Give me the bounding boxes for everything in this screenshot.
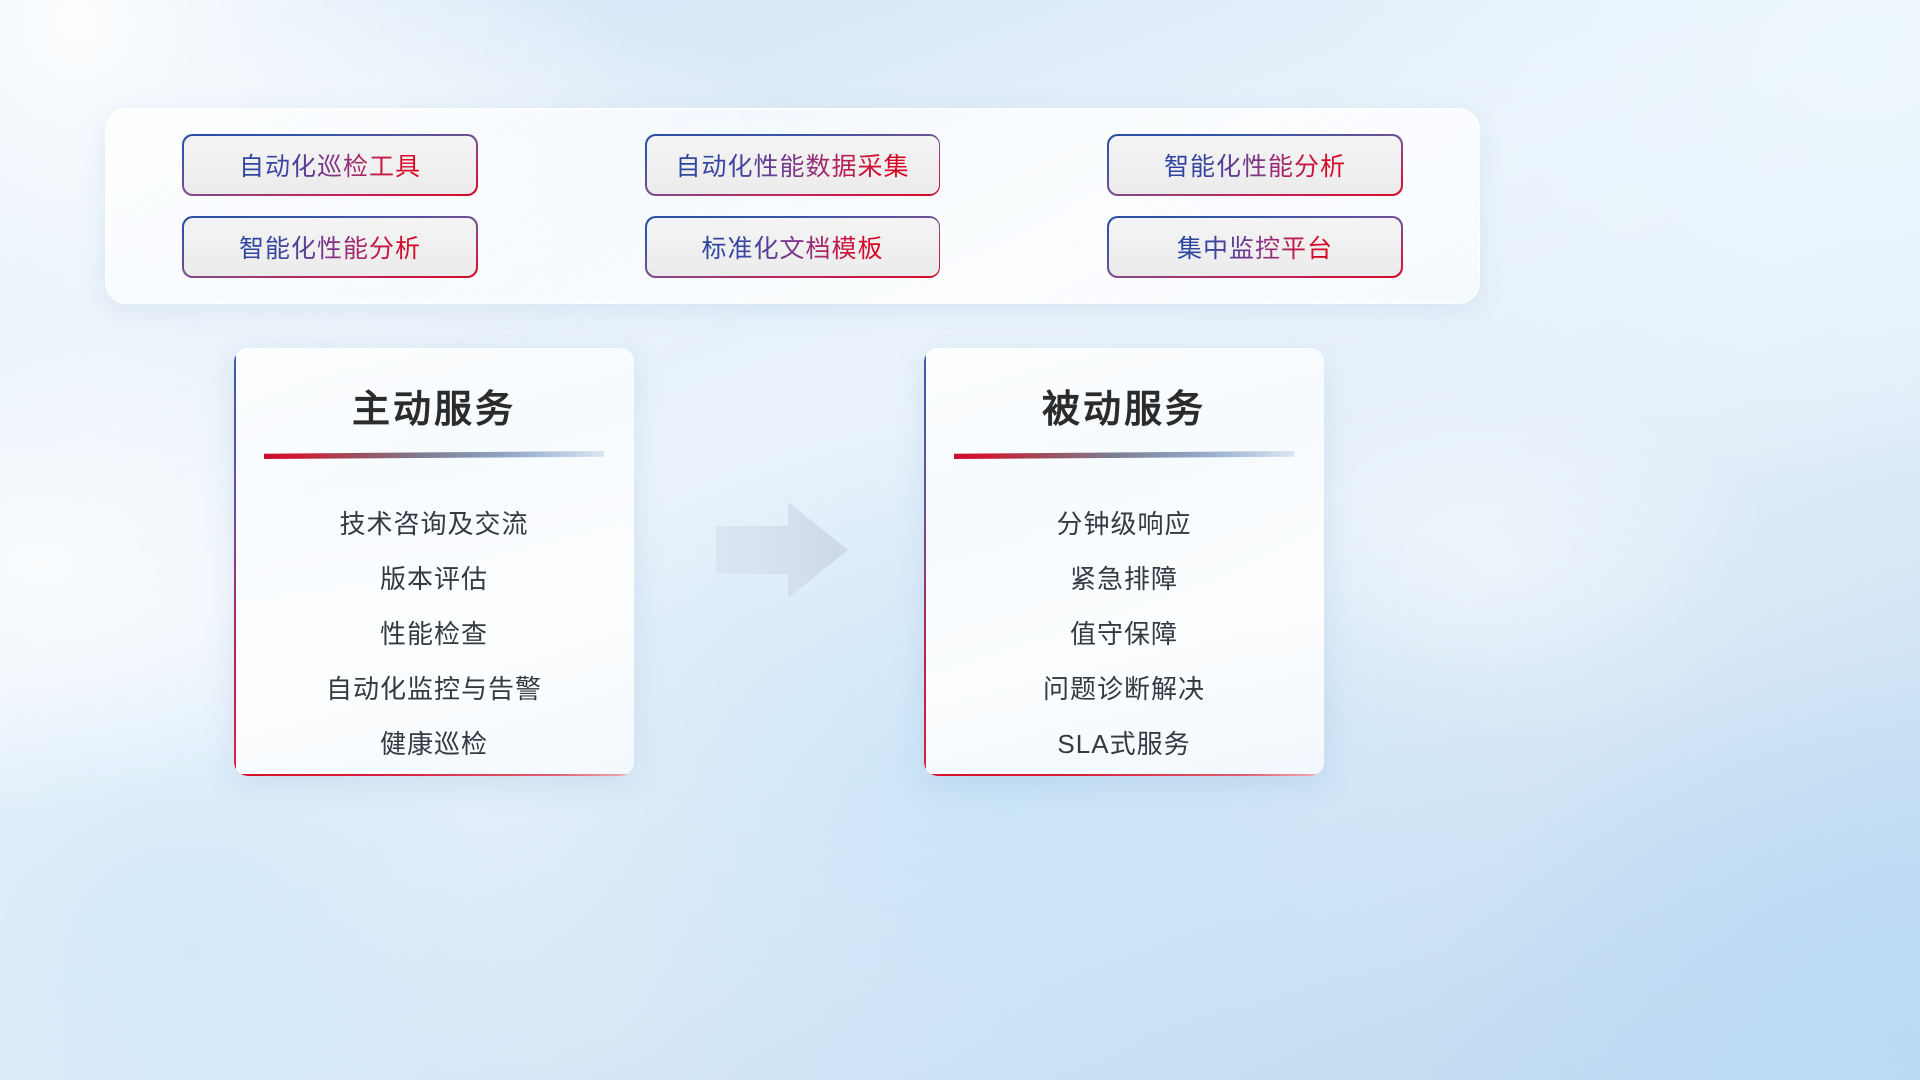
- list-item: SLA式服务: [924, 724, 1324, 761]
- capabilities-row-1: 自动化巡检工具 自动化性能数据采集 智能化性能分析: [184, 136, 1401, 194]
- capability-pill-intelligent-performance-analysis-2[interactable]: 智能化性能分析: [184, 218, 476, 276]
- list-item: 紧急排障: [924, 559, 1324, 596]
- list-item: 问题诊断解决: [924, 669, 1324, 706]
- capability-pill-label: 自动化巡检工具: [239, 147, 421, 183]
- list-item: 技术咨询及交流: [234, 504, 634, 541]
- card-title-divider: [954, 451, 1294, 460]
- capabilities-panel: 自动化巡检工具 自动化性能数据采集 智能化性能分析 智能化性能分析 标准化文档模…: [105, 108, 1480, 304]
- capability-pill-label: 标准化文档模板: [701, 229, 883, 265]
- card-title: 主动服务: [234, 378, 634, 433]
- right-arrow-icon: [712, 500, 852, 600]
- capability-pill-intelligent-performance-analysis[interactable]: 智能化性能分析: [1109, 136, 1401, 194]
- list-item: 健康巡检: [234, 724, 634, 761]
- capability-pill-automated-inspection-tool[interactable]: 自动化巡检工具: [184, 136, 476, 194]
- list-item: 版本评估: [234, 559, 634, 596]
- capability-pill-label: 智能化性能分析: [239, 229, 421, 265]
- list-item: 值守保障: [924, 614, 1324, 651]
- capability-pill-label: 自动化性能数据采集: [675, 147, 909, 183]
- list-item: 性能检查: [234, 614, 634, 651]
- card-item-list: 分钟级响应 紧急排障 值守保障 问题诊断解决 SLA式服务: [924, 504, 1324, 761]
- list-item: 分钟级响应: [924, 504, 1324, 541]
- capability-pill-centralized-monitoring-platform[interactable]: 集中监控平台: [1109, 218, 1401, 276]
- list-item: 自动化监控与告警: [234, 669, 634, 706]
- card-title-divider: [264, 451, 604, 460]
- capability-pill-label: 集中监控平台: [1177, 229, 1333, 265]
- card-title: 被动服务: [924, 378, 1324, 433]
- capabilities-row-2: 智能化性能分析 标准化文档模板 集中监控平台: [184, 218, 1401, 276]
- capability-pill-label: 智能化性能分析: [1164, 147, 1346, 183]
- card-item-list: 技术咨询及交流 版本评估 性能检查 自动化监控与告警 健康巡检: [234, 504, 634, 761]
- capability-pill-automated-performance-data-collection[interactable]: 自动化性能数据采集: [647, 136, 939, 194]
- service-card-active: 主动服务 技术咨询及交流 版本评估 性能检查 自动化监控与告警 健康巡检: [234, 348, 634, 776]
- service-card-passive: 被动服务 分钟级响应 紧急排障 值守保障 问题诊断解决 SLA式服务: [924, 348, 1324, 776]
- capability-pill-standardized-document-template[interactable]: 标准化文档模板: [647, 218, 939, 276]
